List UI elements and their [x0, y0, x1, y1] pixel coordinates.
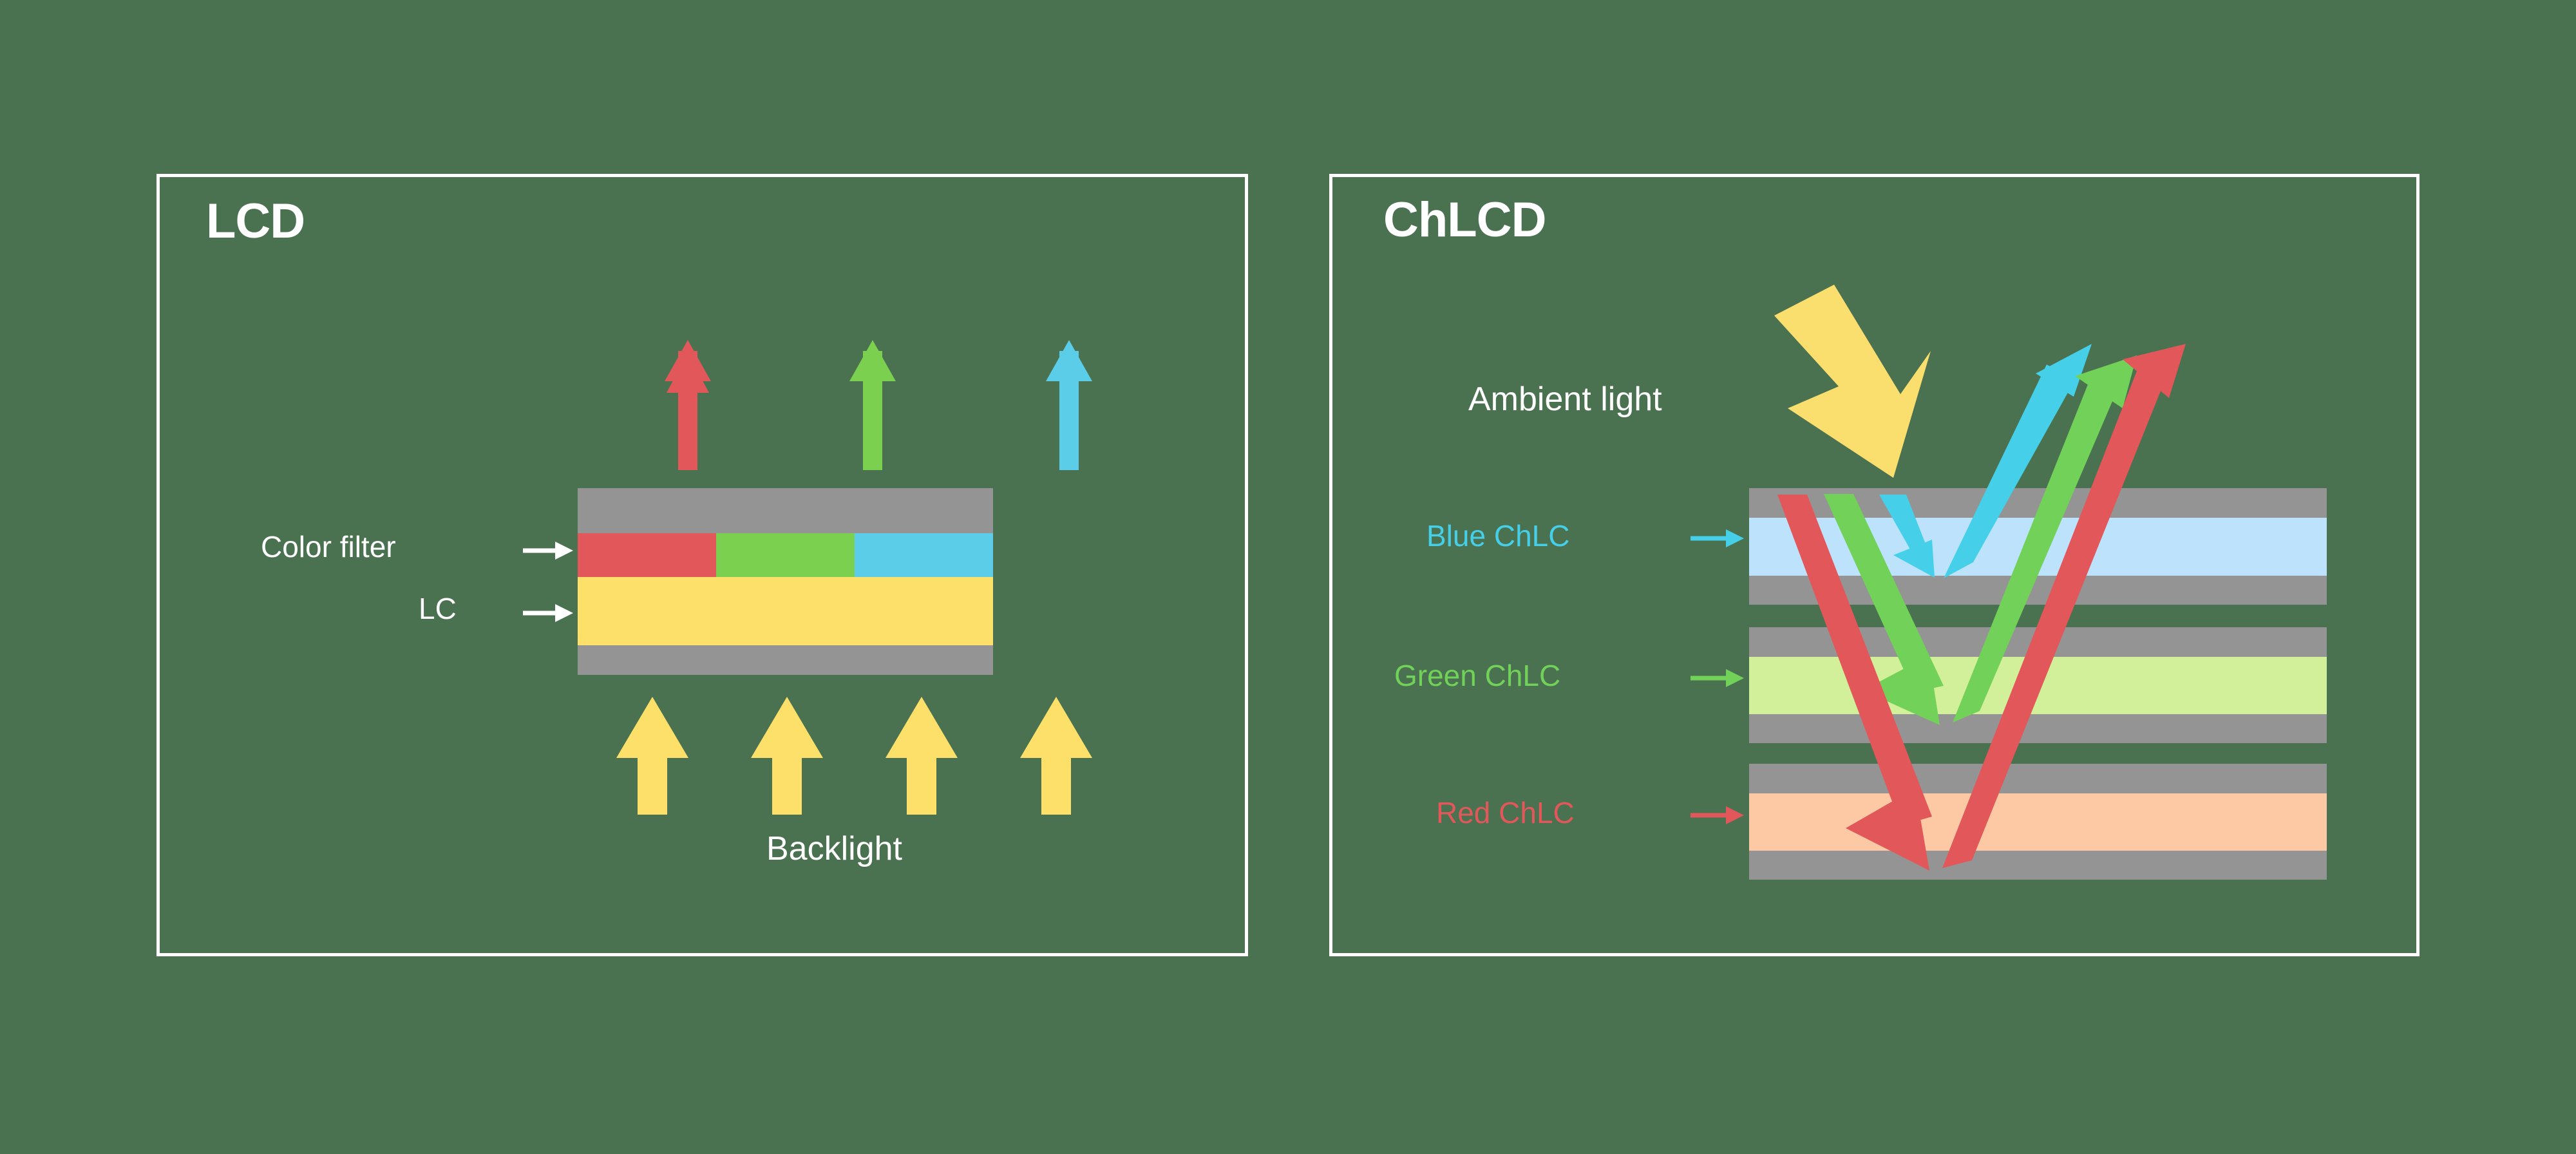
lcd-backlight-arrow-3 — [885, 697, 958, 815]
lcd-red-emitted-arrow — [665, 340, 711, 470]
arrow-overlay — [0, 0, 2576, 1154]
chlcd-green-label-leader-arrow — [1690, 669, 1744, 687]
lcd-green-emitted-arrow — [849, 340, 896, 470]
chlcd-red-reflected-ray — [1942, 344, 2186, 868]
lcd-lc-leader-arrow — [523, 604, 573, 622]
lcd-backlight-arrow-4 — [1020, 697, 1092, 815]
lcd-blue-emitted-arrow — [1046, 340, 1092, 470]
lcd-backlight-arrow-1 — [616, 697, 688, 815]
chlcd-blue-label-leader-arrow — [1690, 529, 1744, 547]
lcd-backlight-arrow-2 — [751, 697, 823, 815]
diagram-canvas: LCD Color filter LC Backlight ChLCD Ambi… — [0, 0, 2576, 1154]
chlcd-red-label-leader-arrow — [1690, 806, 1744, 824]
lcd-color-filter-leader-arrow — [523, 542, 573, 560]
chlcd-ambient-light-arrow — [1774, 285, 1931, 478]
chlcd-blue-incident-ray — [1879, 495, 1935, 578]
